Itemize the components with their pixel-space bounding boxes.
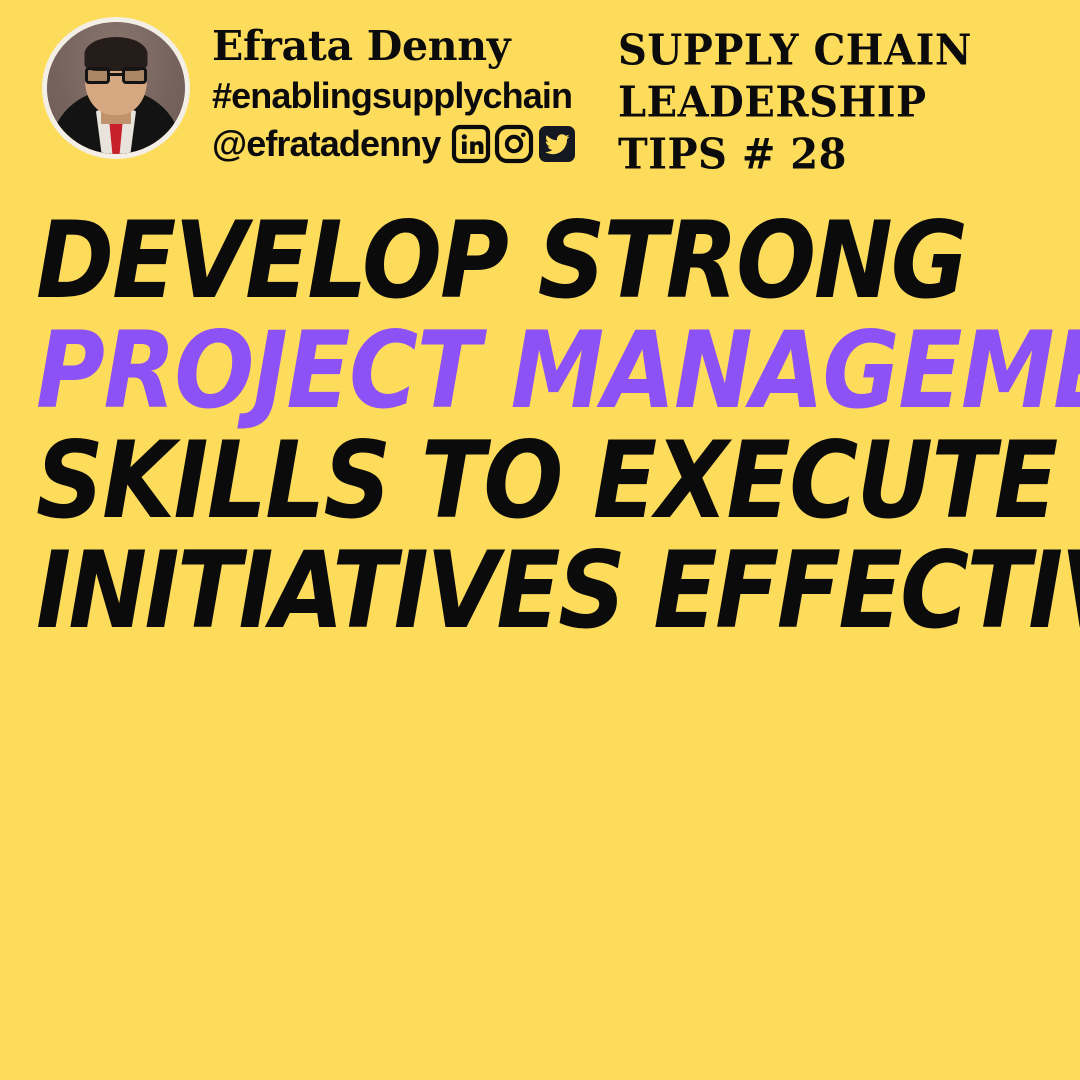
twitter-icon[interactable]: [537, 124, 577, 164]
series-title-line-1: SUPPLY CHAIN: [618, 23, 1058, 78]
headline: DEVELOP STRONG PROJECT MANAGEMENT SKILLS…: [36, 206, 1046, 646]
avatar-glasses-bridge: [110, 73, 122, 76]
header: Efrata Denny #enablingsupplychain @efrat…: [0, 0, 1080, 180]
avatar-lens-right: [122, 67, 147, 84]
series-title-line-3: TIPS # 28: [618, 127, 1058, 182]
avatar-lens-left: [85, 67, 110, 84]
series-title-line-2: LEADERSHIP: [618, 75, 1058, 130]
author-name: Efrata Denny: [212, 22, 612, 71]
author-hashtag[interactable]: #enablingsupplychain: [212, 71, 612, 120]
avatar: [42, 17, 190, 159]
avatar-photo: [47, 22, 185, 154]
linkedin-icon[interactable]: [451, 124, 491, 164]
avatar-hair: [85, 37, 148, 71]
headline-line-2: PROJECT MANAGEMENT: [36, 309, 1036, 432]
headline-line-1: DEVELOP STRONG: [36, 199, 1036, 322]
poster-canvas: Efrata Denny #enablingsupplychain @efrat…: [0, 0, 1080, 1080]
instagram-icon[interactable]: [494, 124, 534, 164]
avatar-glasses: [85, 67, 147, 84]
author-block: Efrata Denny #enablingsupplychain @efrat…: [212, 22, 612, 168]
headline-line-4: INITIATIVES EFFECTIVELY.: [36, 529, 1036, 652]
avatar-ring: [42, 17, 190, 159]
headline-line-3: SKILLS TO EXECUTE: [36, 419, 1036, 542]
author-handle[interactable]: @efratadenny: [212, 120, 440, 168]
series-title: SUPPLY CHAIN LEADERSHIP TIPS # 28: [618, 23, 1058, 179]
handle-row: @efratadenny: [212, 120, 612, 168]
social-icon-group: [451, 124, 577, 164]
empty-space: [0, 660, 1080, 1080]
